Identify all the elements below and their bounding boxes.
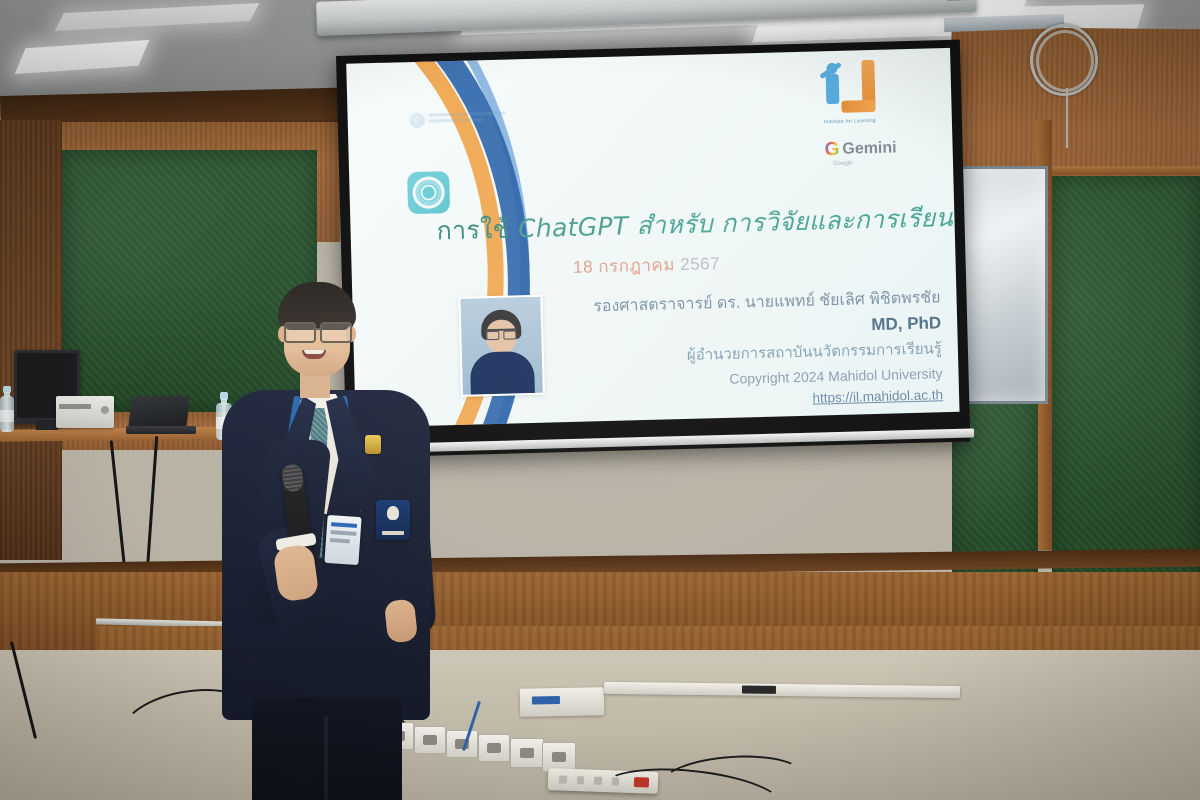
gemini-label: Gemini (842, 139, 897, 158)
slide-title: การใช้ ChatGPT สำหรับ การวิจัยและการเรีย… (436, 199, 931, 252)
lapel-pin (365, 435, 381, 454)
wall-socket-plate[interactable] (520, 687, 604, 716)
institute-for-learning-logo: Institute for Learning (820, 58, 878, 123)
slide-title-en: ChatGPT (518, 211, 629, 243)
laptop-screen (128, 396, 189, 428)
monitor-stand (36, 420, 58, 430)
mahidol-university-logo (409, 108, 505, 131)
slide-url-link[interactable]: https://il.mahidol.ac.th (812, 385, 943, 408)
presenter-left-hand (384, 599, 418, 644)
chatgpt-knot-glyph (412, 176, 445, 209)
wall-socket[interactable] (446, 730, 478, 758)
laptop-base[interactable] (126, 426, 196, 434)
il-letter-l-foot (841, 100, 875, 113)
coiled-cable (1036, 30, 1094, 92)
gemini-logo: G Gemini Google (824, 137, 897, 161)
id-badge (324, 515, 361, 565)
il-logo-caption: Institute for Learning (822, 118, 878, 125)
gemini-sublabel: Google (833, 161, 853, 168)
mahidol-glyph-icon (410, 112, 425, 127)
water-bottle[interactable] (0, 386, 14, 432)
presentation-photo: Institute for Learning G Gemini Google ก… (0, 0, 1200, 800)
presenter (214, 278, 434, 800)
university-crest-patch (376, 500, 410, 540)
green-felt-board (1052, 176, 1200, 606)
eyeglasses (282, 322, 354, 340)
gemini-g-icon: G (824, 139, 839, 161)
presenter-trousers (252, 698, 402, 800)
mahidol-wordmark (429, 112, 506, 126)
chatgpt-icon (407, 171, 450, 214)
wall-socket[interactable] (510, 738, 544, 768)
slide-title-th-lead: การใช้ (436, 214, 518, 245)
cable-drop (1066, 88, 1068, 148)
slide-date-daymonth: 18 กรกฎาคม (573, 255, 675, 277)
speaker-details: รองศาสตราจารย์ ดร. นายแพทย์ ชัยเลิศ พิชิ… (550, 286, 943, 416)
wall-socket[interactable] (478, 734, 510, 762)
slide-date-year: 2567 (680, 254, 720, 274)
av-control-unit[interactable] (56, 396, 114, 428)
speaker-portrait (458, 295, 545, 397)
slide-surface: Institute for Learning G Gemini Google ก… (346, 48, 959, 428)
slide-title-th-tail: สำหรับ การวิจัยและการเรียนการสอน (628, 201, 960, 241)
